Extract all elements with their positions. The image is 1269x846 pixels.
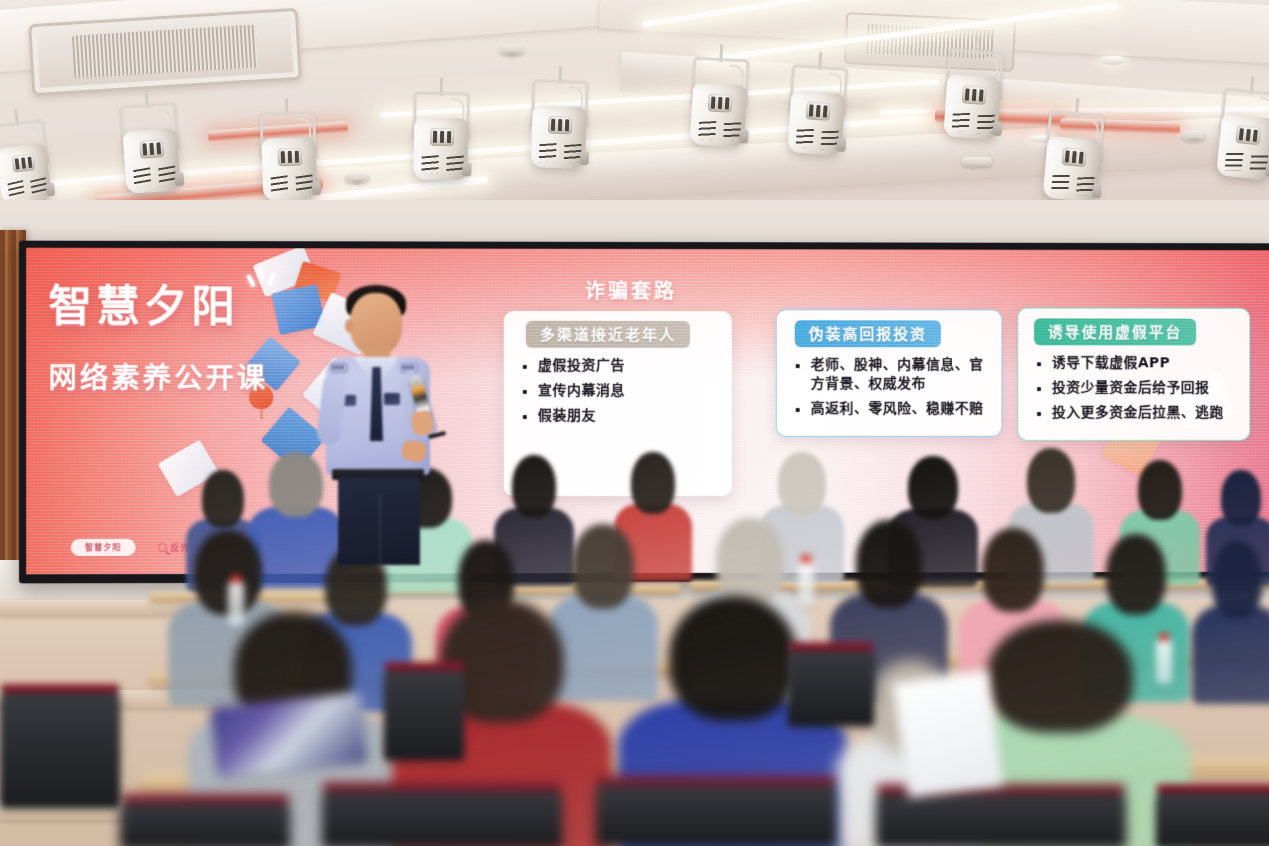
presenter-badge [384,393,400,405]
card-1-bullets: 虚假投资广告 宣传内幕消息 假装朋友 [512,357,724,425]
attendee-head [631,452,675,514]
attendee-head [1106,534,1166,615]
smoke-detector [345,172,369,183]
attendee-head [202,470,243,528]
slide-title: 诈骗套路 [511,275,751,304]
bullet: 假装朋友 [518,406,720,425]
attendee-head [669,596,798,721]
water-bottle [228,582,244,626]
bullet: 投入更多资金后拉黑、逃跑 [1032,404,1237,423]
slide-card-3: 诱导使用虚假平台 诱导下载虚假APP 投资少量资金后给予回报 投入更多资金后拉黑… [1017,307,1250,441]
bullet: 投资少量资金后给予回报 [1032,379,1237,398]
card-1-header: 多渠道接近老年人 [526,321,690,348]
attendee-head [1027,448,1075,513]
attendee-head [856,520,922,608]
presenter-ear [345,319,354,333]
attendee-head [1221,470,1260,526]
chair [788,648,874,726]
smoke-detector [500,44,524,55]
stage-spotlight [686,56,753,155]
bullet: 虚假投资广告 [518,357,720,376]
stage-spotlight [783,64,852,164]
stage-spotlight [117,102,186,202]
sparkle-icon [247,268,277,294]
bullet: 高返利、零风险、稳赚不赔 [791,400,990,419]
ceiling-speaker [962,157,992,166]
ceiling-air-vent [28,8,302,96]
brand-pill: 智慧夕阳 [71,539,136,556]
presenter-head [350,293,402,355]
card-3-bullets: 诱导下载虚假APP 投资少量资金后给予回报 投入更多资金后拉黑、逃跑 [1026,354,1241,422]
stage-spotlight [939,48,1008,148]
slide-card-2: 伪装高回报投资 老师、股神、内幕信息、官方背景、权威发布 高返利、零风险、稳赚不… [776,309,1003,437]
water-bottle [798,562,814,606]
attendee-head [1138,460,1183,520]
attendee-head [987,620,1133,733]
attendee-head [778,452,825,515]
stage-spotlight [256,111,321,209]
chair [1156,790,1269,846]
presenter-epaulette-left [330,363,348,373]
brand-subtitle: 网络素养公开课 [48,357,301,397]
chair [596,782,836,846]
card-2-bullets: 老师、股神、内幕信息、官方背景、权威发布 高返利、零风险、稳赚不赔 [785,356,994,418]
chair [384,668,464,760]
card-3-header: 诱导使用虚假平台 [1034,318,1196,345]
attendee-head [269,452,323,517]
lecture-hall-photo: 智慧夕阳 网络素养公开课 智慧夕阳 反诈伴行 诈骗套路 多渠道接近老年人 虚假投… [0,0,1269,846]
attendee-navy-cap-r [1192,540,1269,698]
chair [322,788,562,846]
stage-spotlight [1211,87,1269,189]
attendee-head [716,518,783,606]
stage-spotlight [526,79,591,177]
bullet: 宣传内幕消息 [518,382,720,401]
attendee-head [1212,540,1262,619]
attendee-torso [1192,606,1269,704]
bullet: 诱导下载虚假APP [1032,354,1237,373]
chair [876,790,1126,846]
card-2-header: 伪装高回报投资 [795,320,941,347]
recessed-downlight [1100,56,1126,65]
magnifier-icon [158,543,167,552]
presenter-trousers [338,477,420,565]
water-bottle [1156,640,1172,684]
attendee-head [512,455,557,518]
presenter-police-officer [318,283,438,563]
stage-spotlight [409,91,473,188]
smoke-detector [1182,130,1206,141]
bullet: 老师、股神、内幕信息、官方背景、权威发布 [791,356,990,393]
attendee-head [982,528,1044,612]
handout-paper [892,670,1003,798]
attendee-head [908,456,958,519]
stage-spotlight [1038,109,1108,210]
slide-branding: 智慧夕阳 网络素养公开课 [48,272,301,397]
chair [0,690,120,808]
chair [120,800,290,846]
